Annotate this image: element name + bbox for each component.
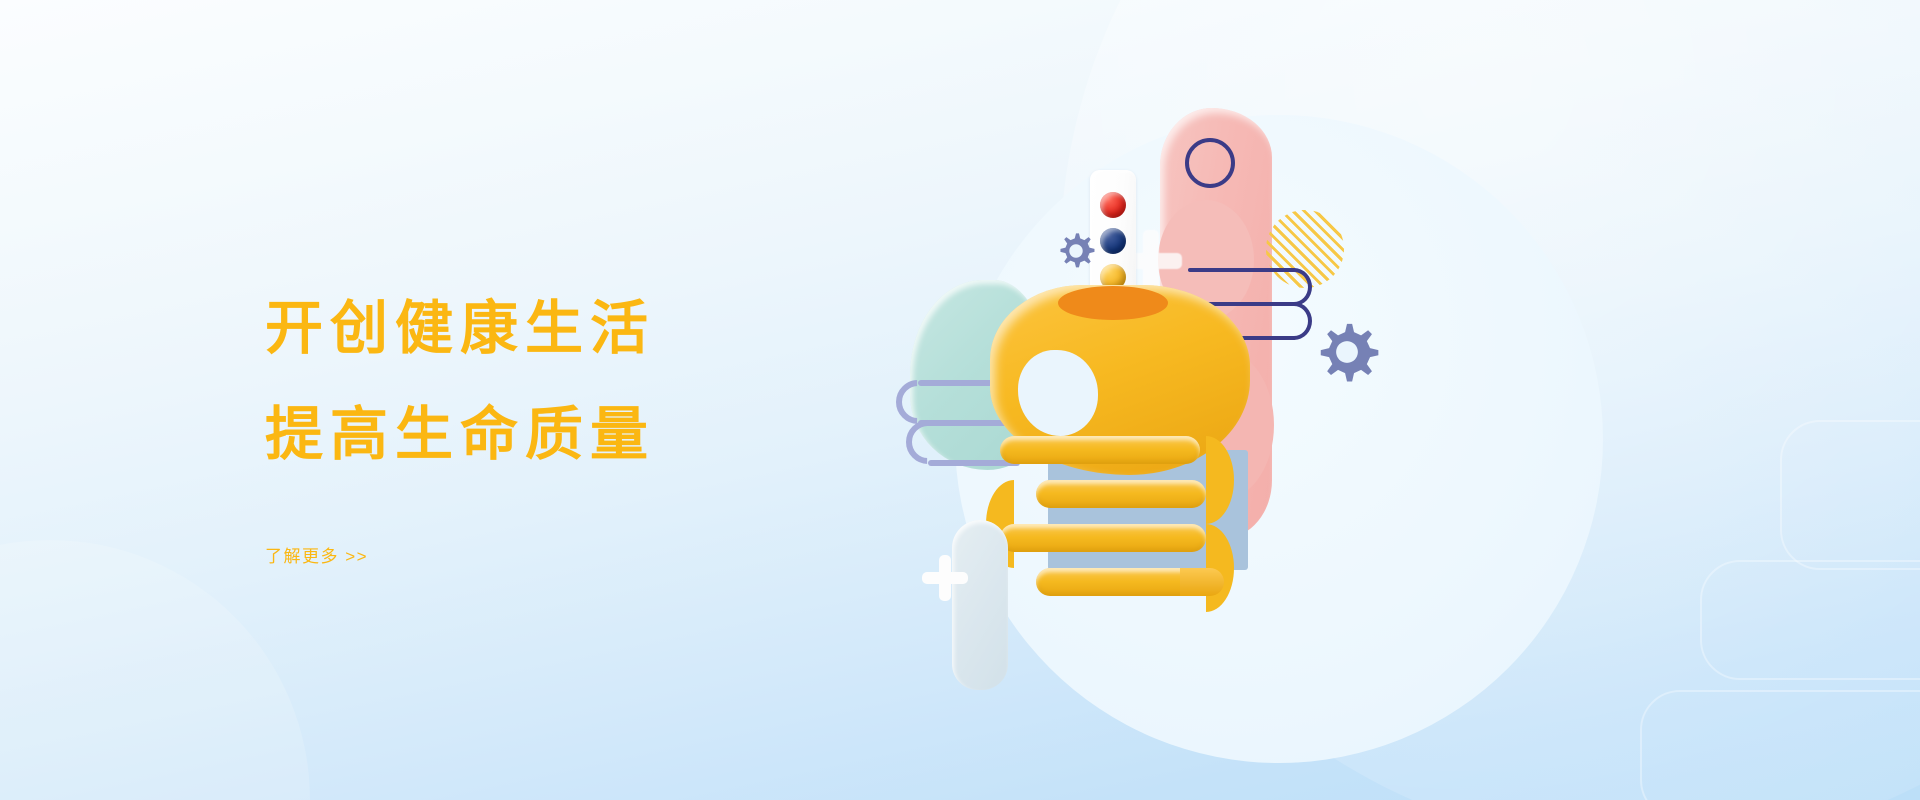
stomach-cardia	[1058, 286, 1168, 320]
medical-cross-icon-small	[922, 555, 968, 601]
stomach-inner-cut	[1018, 350, 1098, 436]
grey-tube-shape	[952, 520, 1008, 690]
background-rounded-rect-2	[1640, 690, 1920, 800]
intestine-segment-3	[1000, 524, 1206, 552]
background-circle-left	[0, 540, 310, 800]
hero-copy: 开创健康生活 提高生命质量 了解更多 >>	[265, 300, 885, 567]
pill-red-icon	[1100, 192, 1126, 218]
navy-ring-icon	[1185, 138, 1235, 188]
intestine-segment-2	[1036, 480, 1206, 508]
learn-more-link[interactable]: 了解更多 >>	[265, 542, 368, 567]
headline-line-1: 开创健康生活	[265, 300, 885, 358]
background-rounded-rect-3	[1780, 420, 1920, 570]
pill-navy-icon	[1100, 228, 1126, 254]
background-rounded-rect-1	[1700, 560, 1920, 680]
digestive-health-illustration	[930, 50, 1630, 770]
intestine-end-cap	[1180, 568, 1224, 596]
headline-line-2: 提高生命质量	[265, 406, 885, 464]
gear-large-icon	[1315, 320, 1379, 384]
intestine-segment-1	[1000, 436, 1200, 464]
hero-banner: 开创健康生活 提高生命质量 了解更多 >>	[0, 0, 1920, 800]
gear-small-icon	[1055, 230, 1097, 272]
